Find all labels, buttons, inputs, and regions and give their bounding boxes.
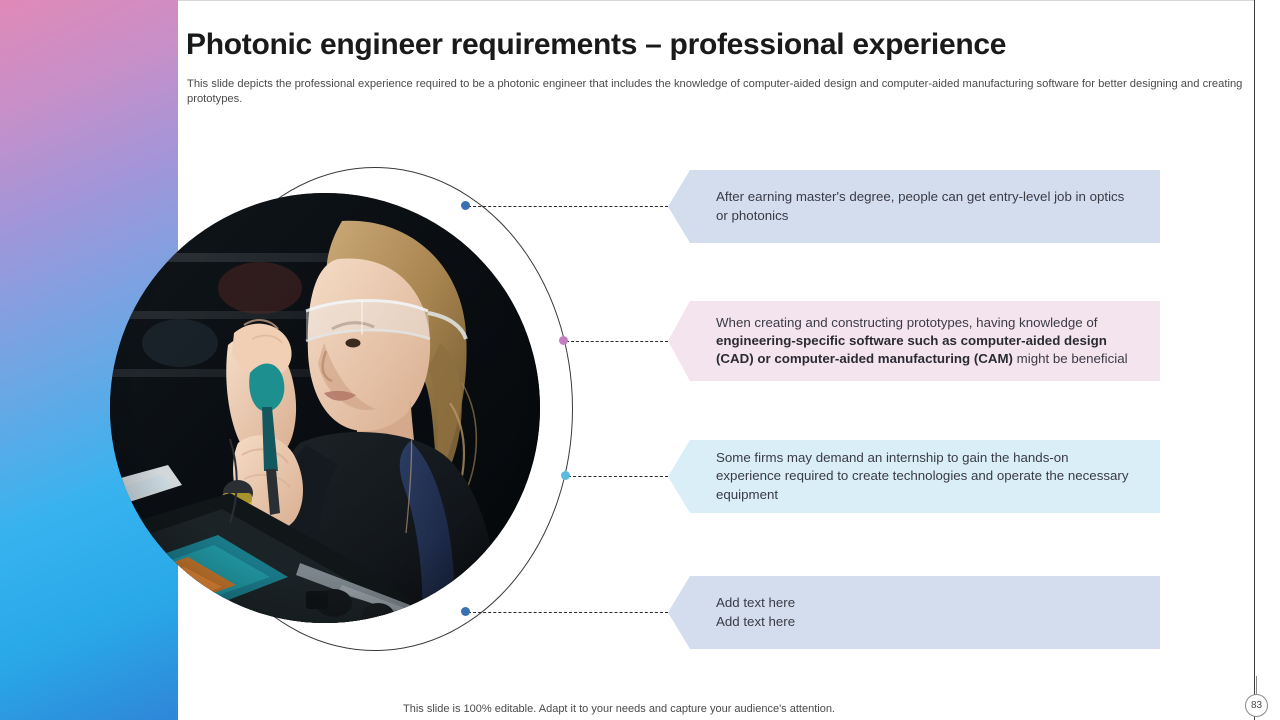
callout-box-3[interactable]: Some firms may demand an internship to g…	[668, 440, 1160, 513]
connector-line-4	[468, 612, 668, 613]
connector-dot-1	[461, 201, 470, 210]
callout-text-4-line2: Add text here	[716, 613, 795, 631]
editable-note: This slide is 100% editable. Adapt it to…	[403, 703, 835, 715]
connector-dot-2	[559, 336, 568, 345]
callout-box-4[interactable]: Add text here Add text here	[668, 576, 1160, 649]
callout-text-4: Add text here Add text here	[716, 594, 795, 631]
slide-frame-right	[1254, 0, 1255, 720]
callout-text-4-line1: Add text here	[716, 594, 795, 612]
callout-body-3: Some firms may demand an internship to g…	[690, 440, 1160, 513]
callout-text-2-tail: might be beneficial	[1013, 351, 1128, 366]
connector-dot-4	[461, 607, 470, 616]
callout-notch-1	[668, 170, 690, 243]
slide-canvas: Photonic engineer requirements – profess…	[0, 0, 1280, 720]
callout-text-3: Some firms may demand an internship to g…	[716, 449, 1134, 504]
callout-box-1[interactable]: After earning master's degree, people ca…	[668, 170, 1160, 243]
page-title: Photonic engineer requirements – profess…	[186, 26, 1246, 64]
slide-frame-top	[178, 0, 1255, 1]
callout-text-2: When creating and constructing prototype…	[716, 314, 1134, 369]
connector-line-3	[568, 476, 668, 477]
connector-line-2	[566, 341, 668, 342]
callout-box-2[interactable]: When creating and constructing prototype…	[668, 301, 1160, 381]
connector-line-1	[468, 206, 668, 207]
callout-notch-4	[668, 576, 690, 649]
callout-body-2: When creating and constructing prototype…	[690, 301, 1160, 381]
callout-text-2-lead: When creating and constructing prototype…	[716, 315, 1097, 330]
callout-text-1: After earning master's degree, people ca…	[716, 188, 1134, 225]
page-badge-stem	[1256, 676, 1257, 694]
page-subtitle: This slide depicts the professional expe…	[187, 77, 1252, 106]
callout-body-1: After earning master's degree, people ca…	[690, 170, 1160, 243]
connector-dot-3	[561, 471, 570, 480]
callout-notch-2	[668, 301, 690, 381]
callout-body-4: Add text here Add text here	[690, 576, 1160, 649]
engineer-photo	[110, 193, 540, 623]
page-number-badge: 83	[1245, 694, 1268, 717]
callout-notch-3	[668, 440, 690, 513]
